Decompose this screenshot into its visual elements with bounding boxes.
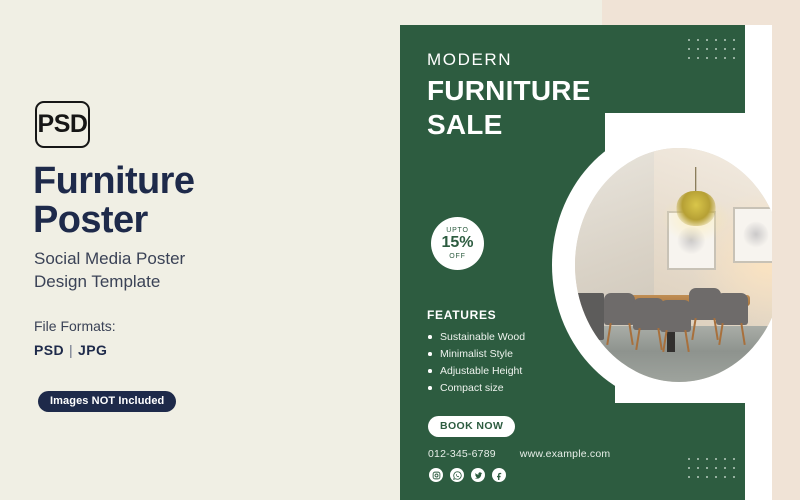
chandelier-body: [676, 191, 715, 226]
photo-framed-art-2: [733, 207, 772, 263]
headline-line-1: FURNITURE: [427, 74, 591, 108]
format-jpg: JPG: [78, 342, 107, 358]
photo-chandelier: [671, 167, 721, 237]
subtitle-line-1: Social Media Poster: [34, 249, 185, 268]
chair-seat: [604, 293, 635, 325]
subtitle-line-2: Design Template: [34, 271, 364, 294]
photo-chair: [604, 293, 635, 344]
page-title: Furniture Poster: [33, 162, 373, 240]
discount-upto-label: UPTO: [446, 227, 469, 235]
title-line-1: Furniture: [33, 160, 194, 202]
file-formats-value: PSD|JPG: [34, 342, 107, 358]
poster-template-preview: PSD Furniture Poster Social Media Poster…: [0, 0, 800, 500]
furniture-photo-scene: [575, 148, 772, 382]
whatsapp-icon[interactable]: [450, 468, 464, 482]
feature-item: Minimalist Style: [427, 346, 525, 363]
chandelier-rod: [695, 167, 697, 194]
images-not-included-badge: Images NOT Included: [38, 391, 176, 412]
psd-format-badge: PSD: [35, 101, 90, 148]
discount-percent: 15%: [441, 234, 473, 252]
title-line-2: Poster: [33, 201, 373, 240]
chair-leg: [606, 323, 611, 345]
furniture-photo: [575, 148, 772, 382]
chair-leg: [740, 323, 745, 345]
chair-leg: [662, 330, 667, 352]
headline-eyebrow: MODERN: [427, 49, 591, 72]
book-now-button[interactable]: BOOK NOW: [428, 416, 515, 437]
chair-seat: [716, 293, 747, 325]
headline-line-2: SALE: [427, 108, 591, 142]
poster-artboard: MODERN FURNITURE SALE UPTO 15% OFF FEATU…: [400, 25, 772, 500]
instagram-icon[interactable]: [429, 468, 443, 482]
discount-off-label: OFF: [449, 253, 465, 261]
photo-chair: [660, 300, 691, 351]
feature-item: Sustainable Wood: [427, 329, 525, 346]
file-formats-label: File Formats:: [34, 318, 116, 334]
feature-item: Compact size: [427, 380, 525, 397]
dot-grid-bottom-decoration: [688, 458, 742, 485]
format-separator: |: [64, 342, 78, 358]
photo-sideboard: [575, 293, 604, 340]
feature-item: Adjustable Height: [427, 363, 525, 380]
photo-chair: [716, 293, 747, 344]
chair-leg: [691, 318, 696, 340]
photo-art-sketch-2: [743, 221, 768, 250]
social-links: [429, 468, 506, 482]
format-psd: PSD: [34, 342, 64, 358]
psd-badge-label: PSD: [38, 112, 88, 137]
features-section: FEATURES Sustainable Wood Minimalist Sty…: [427, 308, 525, 397]
chair-leg: [635, 328, 640, 350]
phone-number[interactable]: 012-345-6789: [428, 448, 496, 460]
poster-headline: MODERN FURNITURE SALE: [427, 49, 591, 141]
info-panel: PSD Furniture Poster Social Media Poster…: [0, 0, 400, 500]
facebook-icon[interactable]: [492, 468, 506, 482]
discount-badge: UPTO 15% OFF: [431, 217, 484, 270]
features-list: Sustainable Wood Minimalist Style Adjust…: [427, 329, 525, 397]
chair-leg: [718, 323, 723, 345]
page-subtitle: Social Media Poster Design Template: [34, 248, 364, 294]
chair-seat: [660, 300, 691, 332]
dot-grid-top-decoration: [688, 39, 742, 66]
features-heading: FEATURES: [427, 308, 525, 322]
website-url[interactable]: www.example.com: [520, 448, 611, 460]
twitter-icon[interactable]: [471, 468, 485, 482]
contact-info: 012-345-6789 www.example.com: [428, 448, 610, 460]
